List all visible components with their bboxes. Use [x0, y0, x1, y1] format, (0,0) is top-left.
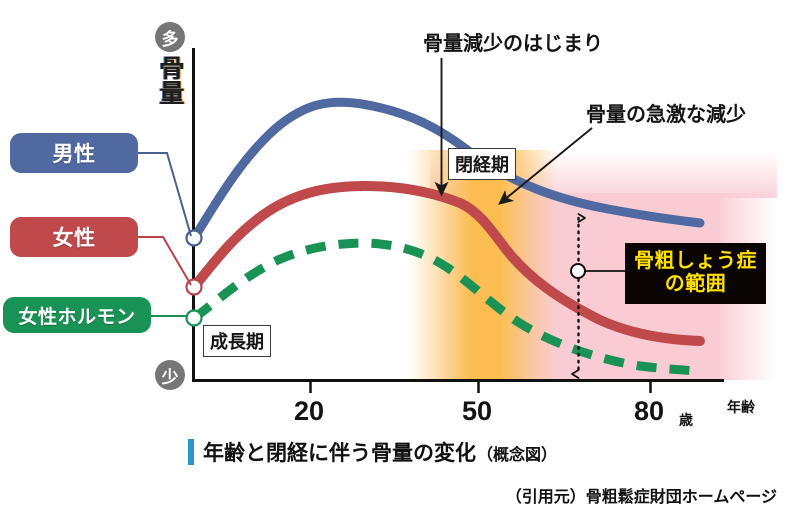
bone-mass-age-chart: 多 少 骨 量 男性 女性 女性ホルモン 閉経期 成長期 骨量減少のはじまり 骨…	[0, 0, 795, 517]
growth-phase-box: 成長期	[203, 325, 271, 357]
menopause-phase-box: 閉経期	[448, 148, 516, 180]
legend-item-female[interactable]: 女性	[10, 217, 138, 257]
legend-leader-lines	[138, 153, 191, 316]
annotation-bone-loss-start: 骨量減少のはじまり	[423, 27, 603, 56]
x-tick-label-20: 20	[294, 396, 324, 427]
caption-title: 年齢と閉経に伴う骨量の変化	[203, 437, 476, 467]
osteoporosis-range-callout: 骨粗しょう症 の範囲	[625, 243, 766, 304]
range-midpoint-marker	[571, 264, 585, 278]
callout-line-1: 骨粗しょう症	[634, 250, 757, 273]
legend-item-female-hormone[interactable]: 女性ホルモン	[3, 297, 151, 333]
leader-line-female	[138, 237, 191, 285]
x-axis-title: 年齢	[727, 397, 755, 417]
origin-marker-hormone	[187, 311, 202, 326]
axis-low-badge: 少	[155, 360, 185, 390]
origin-marker-male	[187, 231, 202, 246]
x-axis-unit-label: 歳	[679, 410, 693, 430]
y-axis-title: 骨 量	[157, 57, 187, 107]
annotation-rapid-decrease: 骨量の急激な減少	[586, 98, 746, 127]
x-tick-label-80: 80	[634, 396, 664, 427]
axis-high-badge: 多	[155, 22, 185, 52]
figure-source: （引用元）骨粗鬆症財団ホームページ	[506, 483, 777, 507]
y-axis-title-char-2: 量	[157, 82, 187, 107]
x-tick-label-50: 50	[462, 396, 492, 427]
caption-subtitle: （概念図）	[477, 441, 557, 465]
y-axis-title-char-1: 骨	[157, 57, 187, 82]
caption-accent-bar	[188, 439, 194, 465]
legend-item-male[interactable]: 男性	[10, 133, 138, 173]
callout-line-2: の範囲	[634, 273, 757, 296]
leader-line-male	[138, 153, 191, 236]
figure-caption: 年齢と閉経に伴う骨量の変化 （概念図）	[188, 437, 557, 467]
